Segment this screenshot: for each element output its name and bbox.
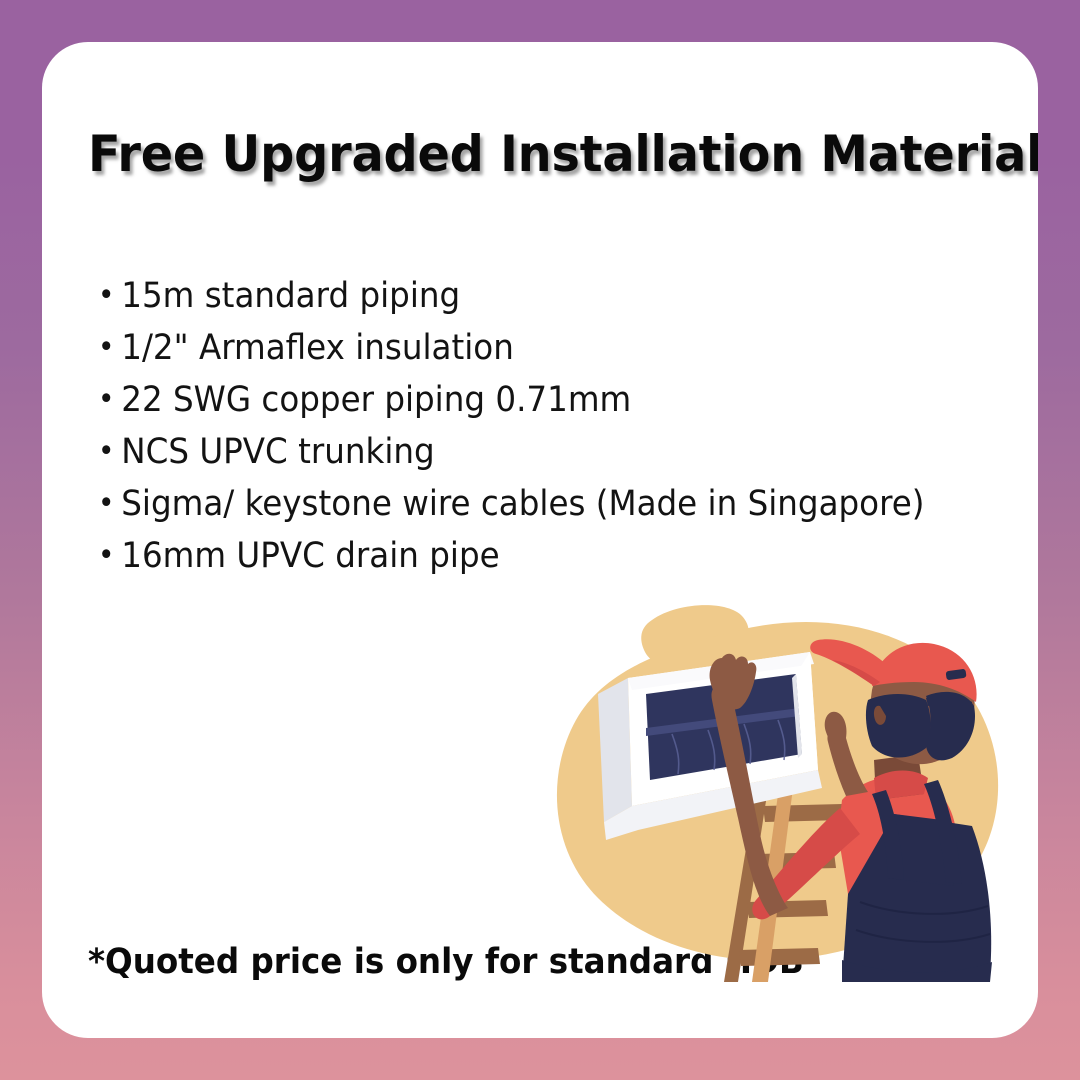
materials-list: 15m standard piping 1/2" Armaflex insula… [98, 270, 1018, 582]
page-title: Free Upgraded Installation Materials: [88, 128, 957, 181]
list-item: 15m standard piping [98, 270, 954, 322]
technician-installing-air-conditioner-illustration [542, 582, 1012, 982]
list-item: 1/2" Armaflex insulation [98, 322, 954, 374]
poster-canvas: Free Upgraded Installation Materials: 15… [0, 0, 1080, 1080]
face-mask [866, 694, 931, 758]
list-item: Sigma/ keystone wire cables (Made in Sin… [98, 478, 954, 530]
list-item: NCS UPVC trunking [98, 426, 954, 478]
content-card: Free Upgraded Installation Materials: 15… [42, 42, 1038, 1038]
list-item: 16mm UPVC drain pipe [98, 530, 954, 582]
list-item: 22 SWG copper piping 0.71mm [98, 374, 954, 426]
